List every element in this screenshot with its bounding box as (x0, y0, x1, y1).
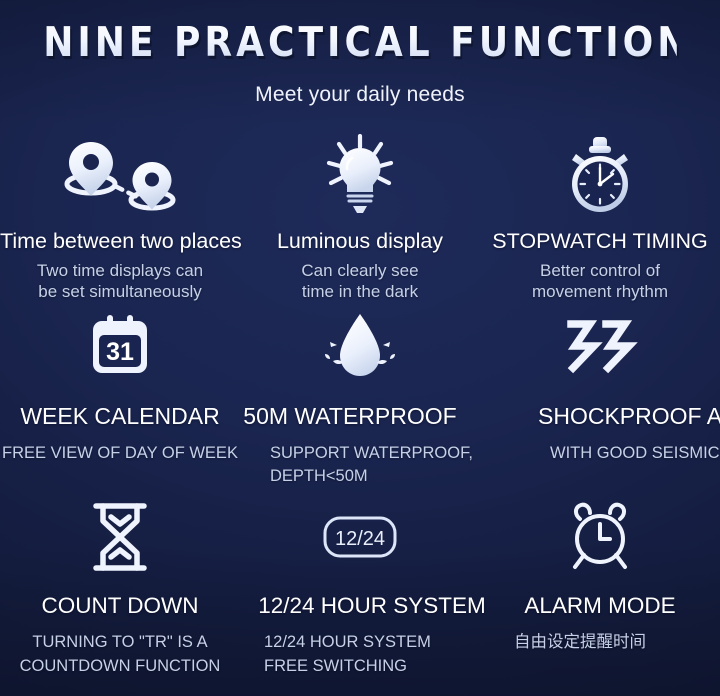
poster-header: NINE PRACTICAL FUNCTIONS Meet your daily… (0, 0, 720, 108)
feature-cell-12-24-hour-system: 12/24 12/24 HOUR SYSTEM 12/24 HOUR SYSTE… (240, 498, 480, 678)
feature-title: Luminous display (240, 228, 480, 254)
feature-subtitle-line: time in the dark (240, 281, 480, 302)
feature-subtitle: Better control of movement rhythm (480, 260, 720, 302)
feature-subtitle-line: FREE SWITCHING (264, 654, 480, 678)
feature-subtitle-line: 12/24 HOUR SYSTEM (264, 630, 480, 654)
feature-subtitle-line: DEPTH<50M (270, 465, 480, 488)
svg-text:31: 31 (106, 338, 134, 366)
feature-title: ALARM MODE (480, 592, 720, 620)
feature-cell-stopwatch-timing: STOPWATCH TIMING Better control of movem… (480, 132, 720, 302)
map-pins-icon (0, 132, 240, 218)
feature-subtitle: SUPPORT WATERPROOF, DEPTH<50M (240, 442, 480, 488)
feature-subtitle: 12/24 HOUR SYSTEM FREE SWITCHING (240, 630, 480, 678)
double-chevron-shock-icon (480, 310, 720, 382)
twelve-twentyfour-badge-icon: 12/24 (240, 498, 480, 576)
feature-subtitle-line: be set simultaneously (0, 281, 240, 302)
feature-cell-luminous-display: Luminous display Can clearly see time in… (240, 132, 480, 302)
feature-subtitle-line: movement rhythm (480, 281, 720, 302)
badge-label: 12/24 (335, 528, 385, 550)
feature-cell-time-between-two-places: Time between two places Two time display… (0, 132, 240, 302)
feature-subtitle: WITH GOOD SEISMIC FUNCTION (520, 442, 720, 465)
feature-subtitle: Can clearly see time in the dark (240, 260, 480, 302)
feature-subtitle: 自由设定提醒时间 (480, 630, 720, 654)
hourglass-icon (0, 498, 240, 576)
water-drop-icon (240, 310, 480, 382)
light-bulb-icon (240, 132, 480, 218)
feature-subtitle-line: Can clearly see (240, 260, 480, 281)
feature-subtitle-line: 自由设定提醒时间 (514, 630, 720, 654)
feature-title: 12/24 HOUR SYSTEM (252, 592, 492, 620)
feature-subtitle: Two time displays can be set simultaneou… (0, 260, 240, 302)
feature-cell-shockproof: SHOCKPROOF AND FALL PROOF WITH GOOD SEIS… (480, 310, 720, 488)
feature-title: 50M WATERPROOF (230, 402, 470, 430)
feature-subtitle-line: SUPPORT WATERPROOF, (270, 442, 480, 465)
features-row-2: 31 WEEK CALENDAR FREE VIEW OF DAY OF WEE… (0, 310, 720, 488)
page-title: NINE PRACTICAL FUNCTIONS (43, 18, 677, 66)
features-row-3: COUNT DOWN TURNING TO "TR" IS A COUNTDOW… (0, 498, 720, 678)
feature-cell-week-calendar: 31 WEEK CALENDAR FREE VIEW OF DAY OF WEE… (0, 310, 240, 488)
feature-title: STOPWATCH TIMING (480, 228, 720, 254)
feature-title: WEEK CALENDAR (0, 402, 240, 430)
feature-title: COUNT DOWN (0, 592, 240, 620)
feature-subtitle-line: TURNING TO "TR" IS A (0, 630, 240, 654)
feature-subtitle-line: FREE VIEW OF DAY OF WEEK (0, 442, 240, 465)
feature-subtitle-line: Two time displays can (0, 260, 240, 281)
calendar-31-icon: 31 (0, 310, 240, 382)
stopwatch-icon (480, 132, 720, 218)
poster-root: NINE PRACTICAL FUNCTIONS Meet your daily… (0, 0, 720, 696)
feature-cell-count-down: COUNT DOWN TURNING TO "TR" IS A COUNTDOW… (0, 498, 240, 678)
feature-cell-alarm-mode: ALARM MODE 自由设定提醒时间 (480, 498, 720, 678)
feature-subtitle-line: WITH GOOD SEISMIC FUNCTION (550, 442, 720, 465)
feature-subtitle-line: COUNTDOWN FUNCTION (0, 654, 240, 678)
features-row-1: Time between two places Two time display… (0, 132, 720, 302)
alarm-clock-icon (480, 498, 720, 576)
page-subtitle: Meet your daily needs (0, 82, 720, 108)
feature-subtitle-line: Better control of (480, 260, 720, 281)
feature-title: Time between two places (0, 228, 240, 254)
feature-subtitle: FREE VIEW OF DAY OF WEEK (0, 442, 240, 465)
feature-subtitle: TURNING TO "TR" IS A COUNTDOWN FUNCTION (0, 630, 240, 678)
feature-title: SHOCKPROOF AND FALL PROOF (538, 402, 720, 430)
feature-cell-50m-waterproof: 50M WATERPROOF SUPPORT WATERPROOF, DEPTH… (240, 310, 480, 488)
features-grid: Time between two places Two time display… (0, 132, 720, 678)
